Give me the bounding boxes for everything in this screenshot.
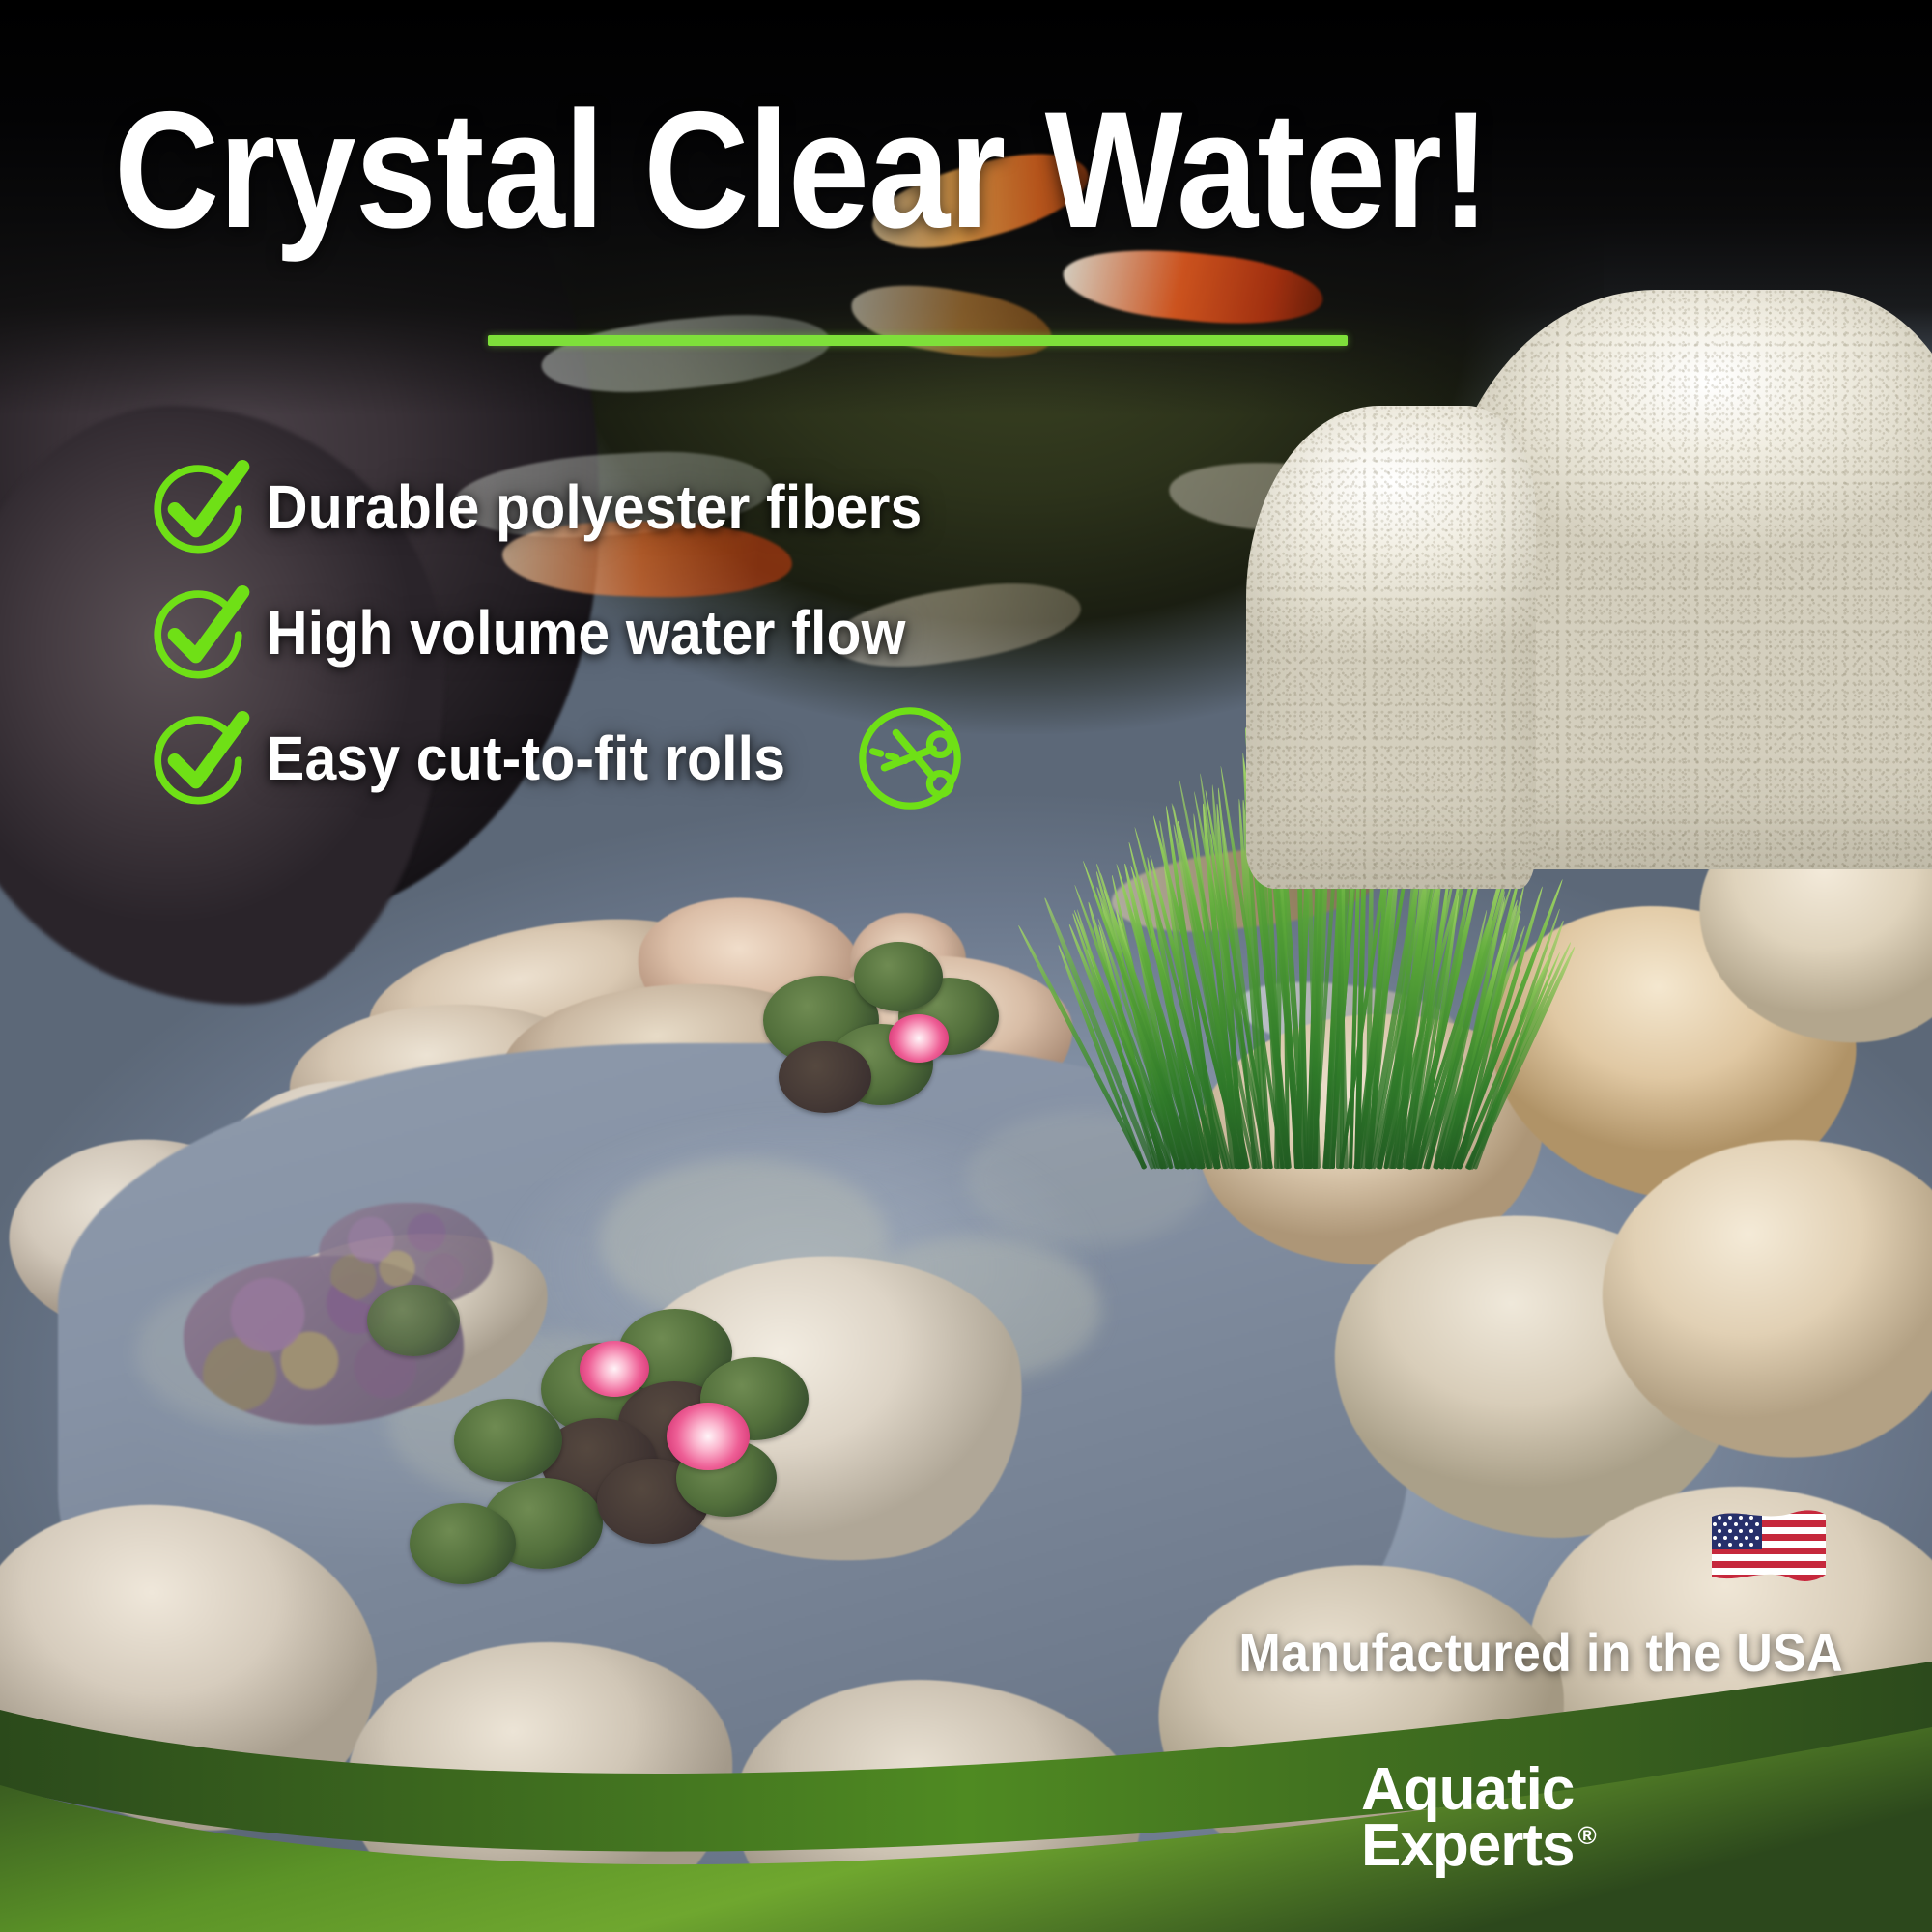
product-infographic: Crystal Clear Water! Durable polyester f… bbox=[0, 0, 1932, 1932]
brand-logo: Aquatic Experts® bbox=[1212, 1754, 1596, 1882]
list-item: High volume water flow bbox=[145, 570, 1265, 696]
feature-label: Easy cut-to-fit rolls bbox=[267, 727, 785, 789]
check-circle-icon bbox=[145, 705, 251, 811]
feature-list: Durable polyester fibers High volume wat… bbox=[145, 444, 1265, 821]
scissors-cut-icon bbox=[852, 700, 968, 816]
feature-label: High volume water flow bbox=[267, 602, 906, 664]
list-item: Durable polyester fibers bbox=[145, 444, 1265, 570]
brand-banner: Aquatic Experts® bbox=[0, 1642, 1932, 1932]
brand-wordmark: Aquatic Experts® bbox=[1361, 1762, 1596, 1875]
check-circle-icon bbox=[145, 454, 251, 560]
usa-flag-icon bbox=[1708, 1503, 1830, 1596]
brand-line-2: Experts bbox=[1361, 1812, 1574, 1879]
shell-fish-logo-icon bbox=[1212, 1754, 1336, 1882]
feature-label: Durable polyester fibers bbox=[267, 476, 923, 538]
check-circle-icon bbox=[145, 580, 251, 686]
accent-underline bbox=[488, 335, 1348, 346]
page-title: Crystal Clear Water! bbox=[114, 89, 1627, 252]
content-overlay: Crystal Clear Water! Durable polyester f… bbox=[0, 0, 1932, 1932]
registered-mark: ® bbox=[1577, 1821, 1595, 1850]
list-item: Easy cut-to-fit rolls bbox=[145, 696, 1265, 821]
